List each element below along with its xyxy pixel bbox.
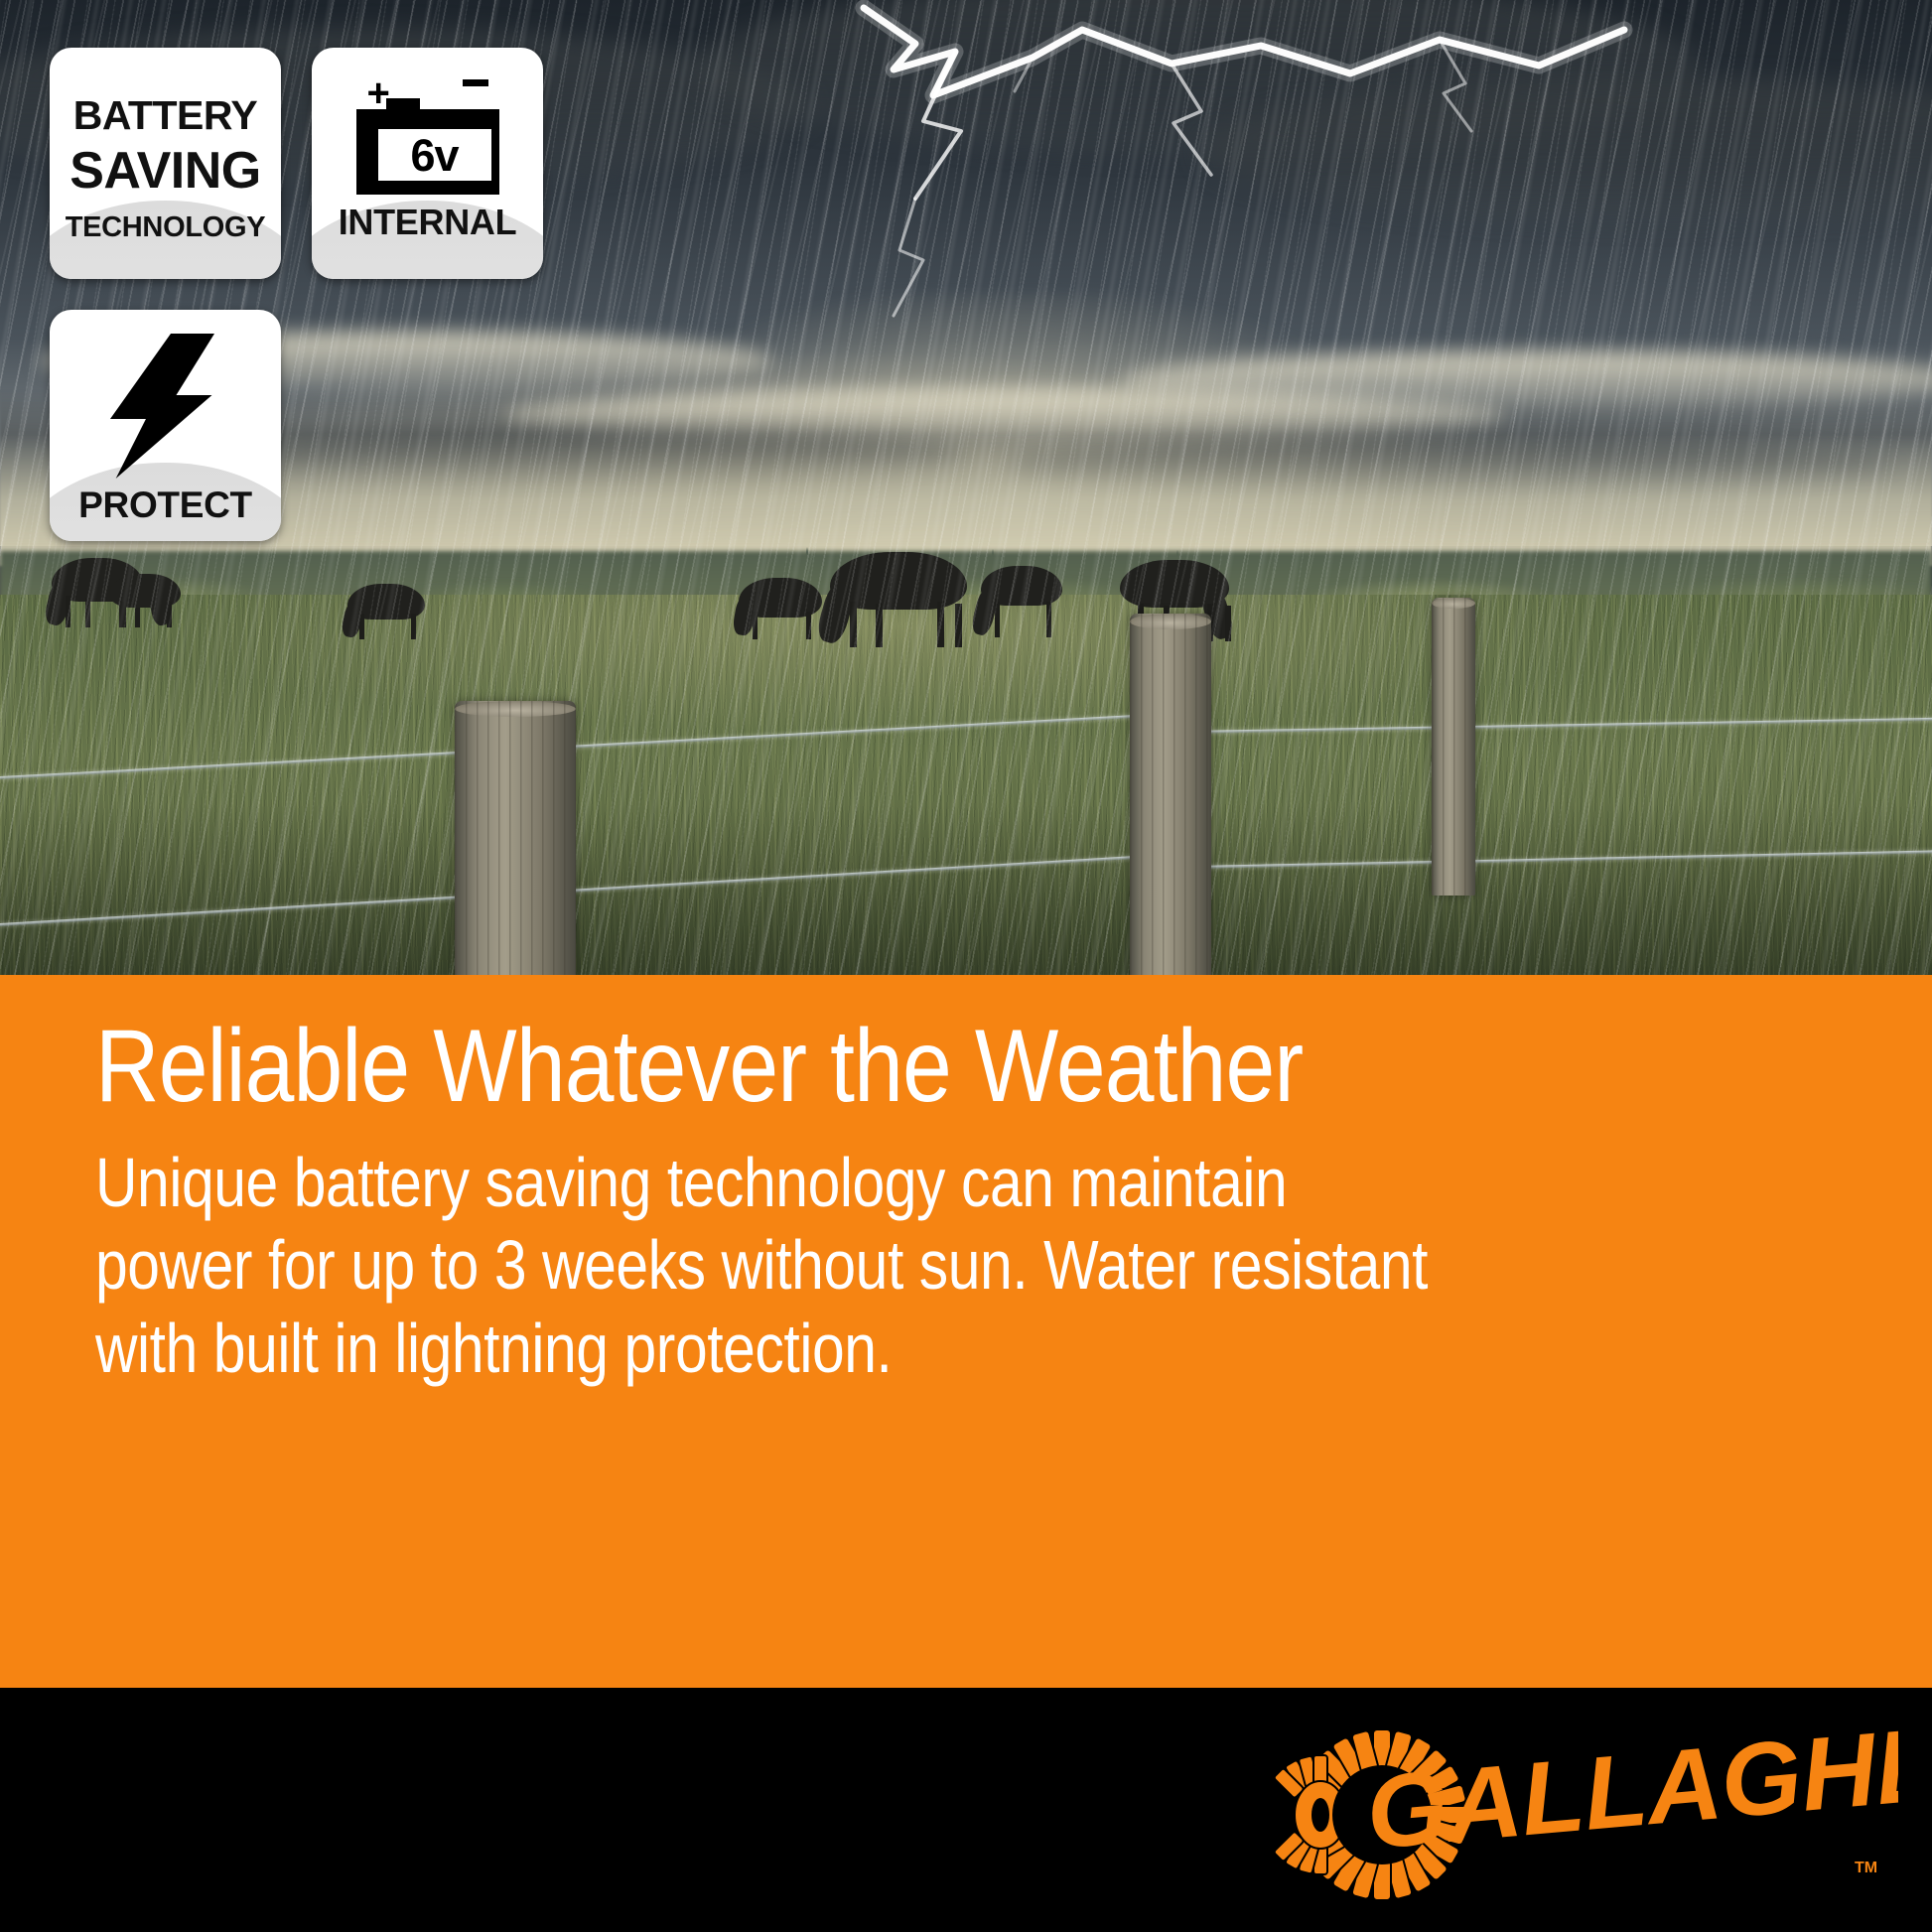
badge-line-2: SAVING — [69, 145, 261, 197]
badge-line-1: BATTERY — [73, 95, 258, 136]
body-line-1: Unique battery saving technology can mai… — [95, 1142, 1585, 1224]
trademark-symbol: TM — [1855, 1860, 1877, 1876]
hero-photo: BATTERY SAVING TECHNOLOGY + 6v — [0, 0, 1932, 975]
badge-line-3: TECHNOLOGY — [66, 213, 266, 242]
footer-bar: GALLAGHER TM — [0, 1688, 1932, 1932]
badge-line-3: INTERNAL — [339, 205, 517, 240]
body-line-3: with built in lightning protection. — [95, 1308, 1585, 1390]
banner-body: Unique battery saving technology can mai… — [95, 1142, 1585, 1390]
fence-post — [1130, 614, 1211, 975]
fence-post — [455, 701, 576, 975]
fence-post-top — [1130, 614, 1211, 629]
battery-minus-terminal — [463, 79, 488, 86]
gallagher-wordmark: GALLAGHER — [1362, 1724, 1898, 1871]
banner-headline: Reliable Whatever the Weather — [95, 1013, 1620, 1120]
fence-post — [1432, 598, 1475, 896]
battery-voltage-label: 6v — [410, 133, 458, 178]
gallagher-logo[interactable]: GALLAGHER TM — [1263, 1724, 1898, 1902]
battery-icon: + 6v — [348, 77, 507, 195]
marketing-image: BATTERY SAVING TECHNOLOGY + 6v — [0, 0, 1932, 1932]
badge-battery-saving[interactable]: BATTERY SAVING TECHNOLOGY — [50, 48, 281, 279]
badge-line-3: PROTECT — [78, 486, 252, 523]
lightning-bolt-icon — [105, 334, 226, 479]
fence-post-top — [1432, 598, 1475, 609]
badge-lightning-protect[interactable]: PROTECT — [50, 310, 281, 541]
message-banner: Reliable Whatever the Weather Unique bat… — [0, 975, 1932, 1688]
fence-post-top — [455, 701, 576, 717]
badge-internal-battery[interactable]: + 6v INTERNAL — [312, 48, 543, 279]
battery-label-window: 6v — [378, 129, 491, 181]
body-line-2: power for up to 3 weeks without sun. Wat… — [95, 1224, 1585, 1307]
rain-overlay-soft — [0, 0, 1932, 975]
